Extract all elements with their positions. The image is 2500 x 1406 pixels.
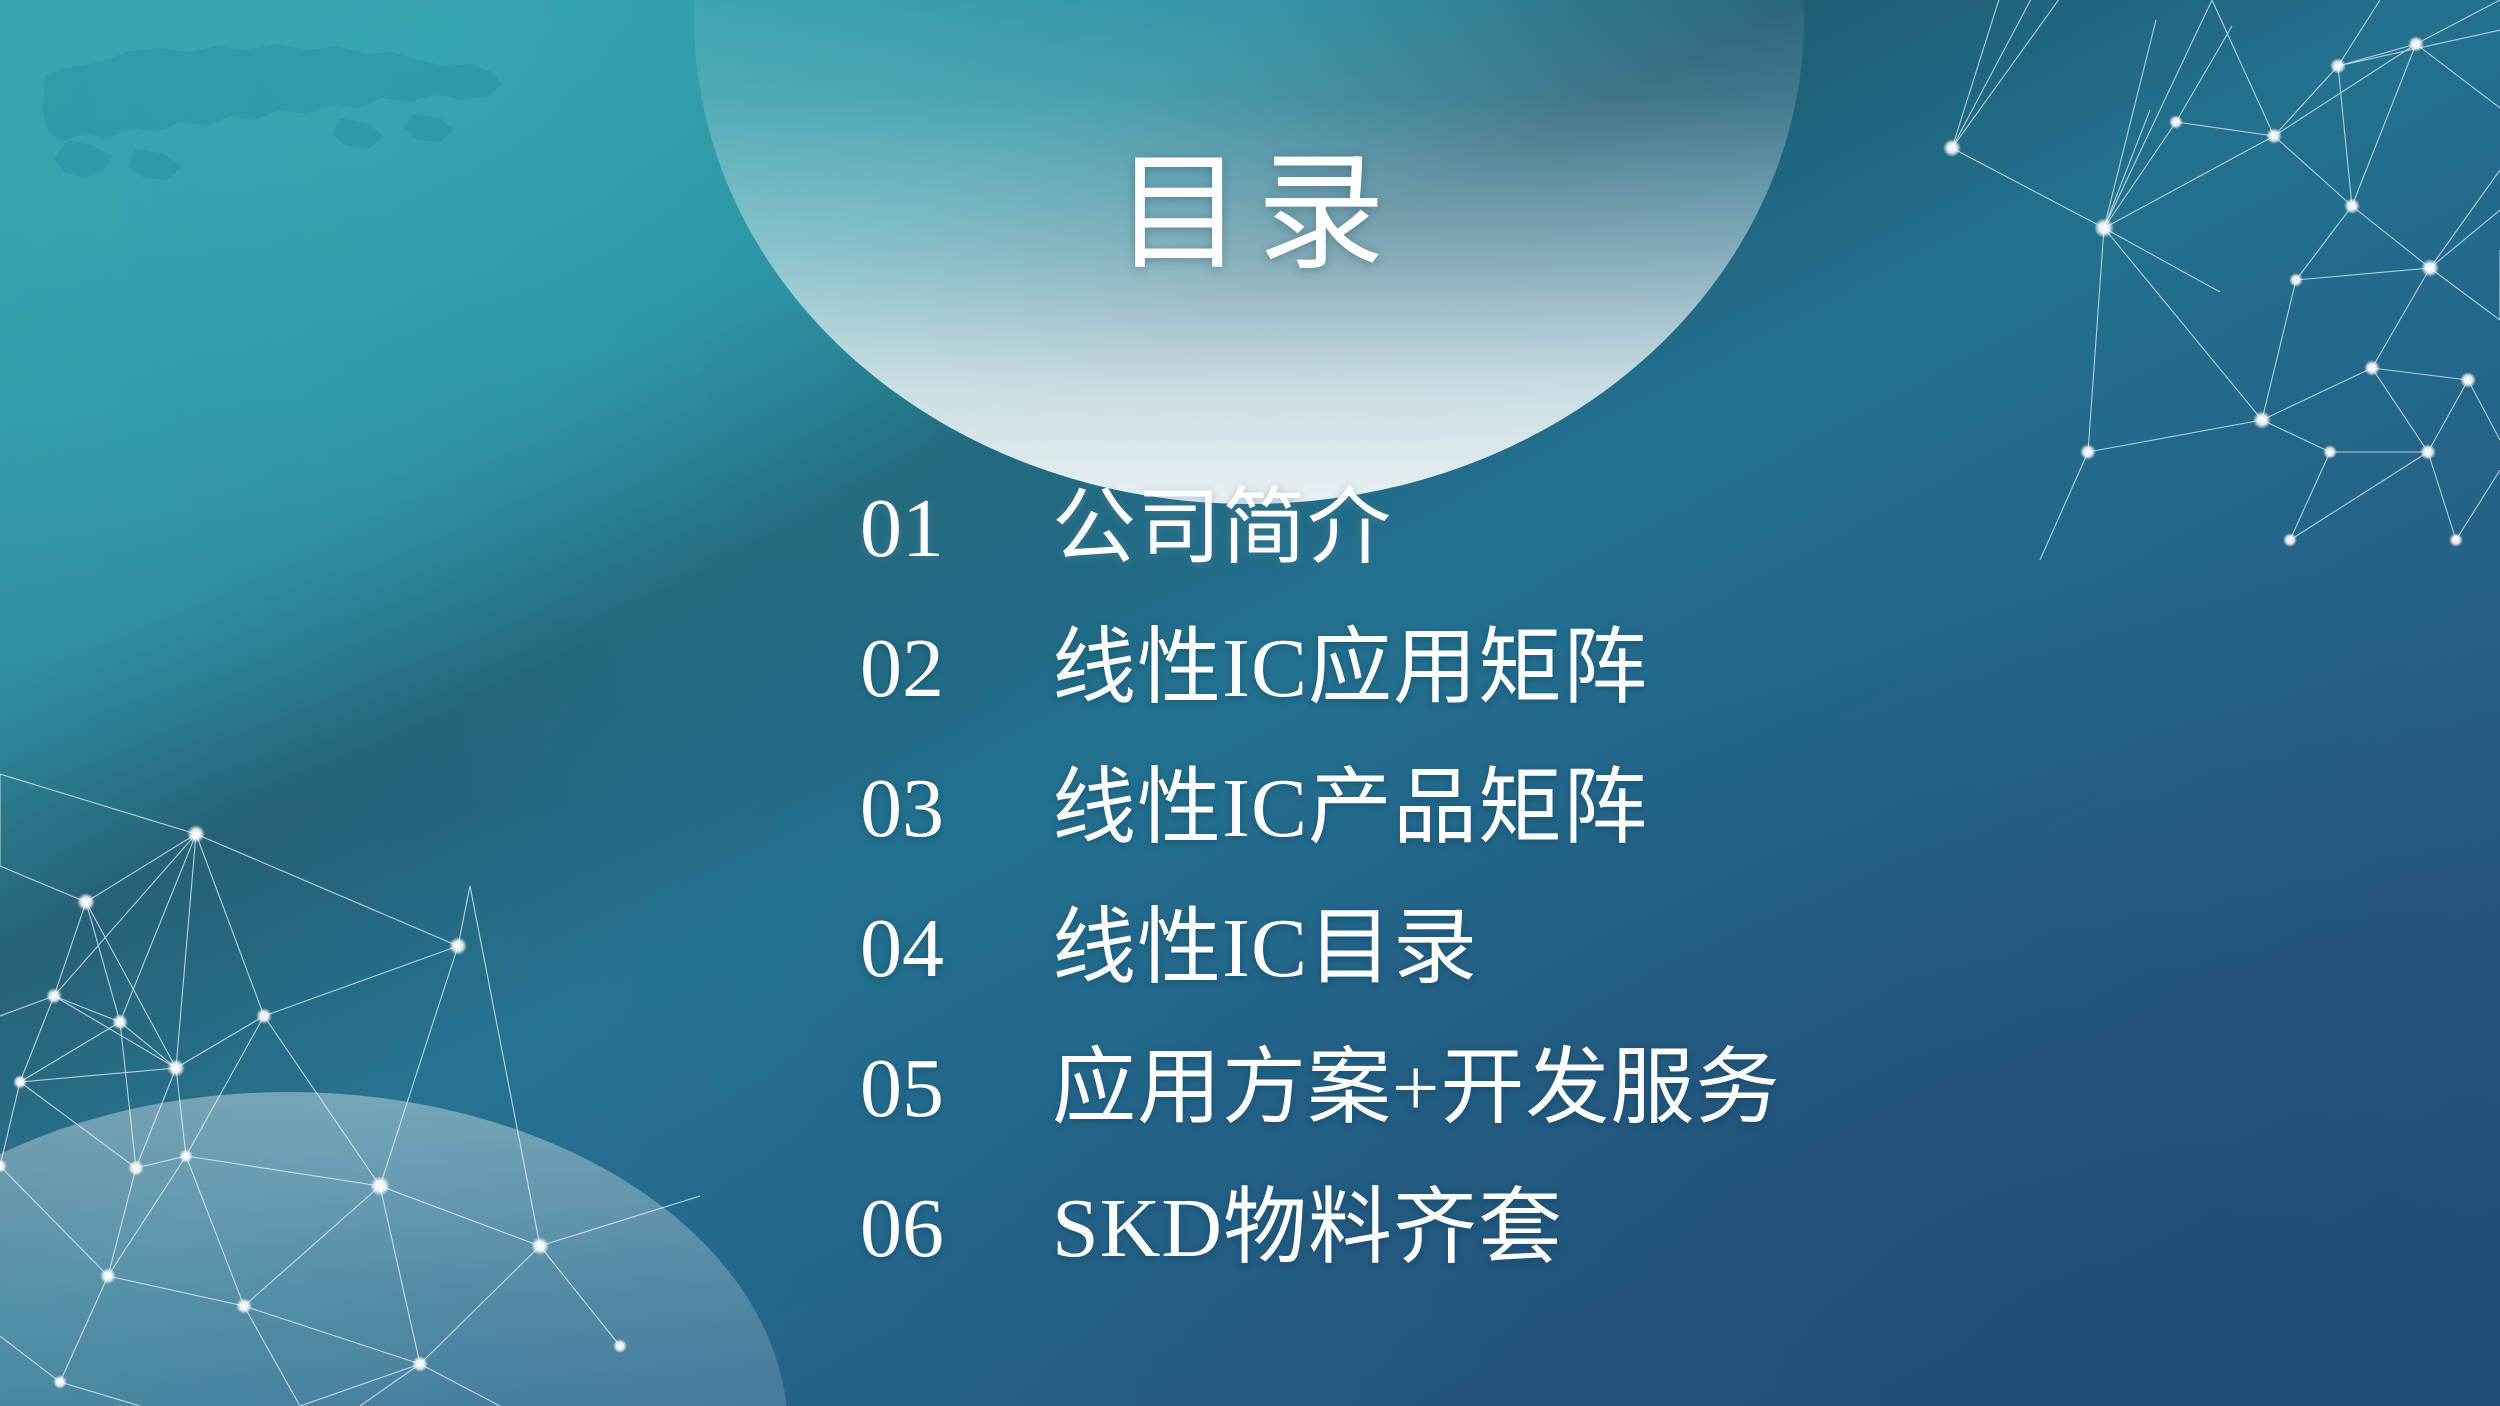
slide-content: 目录 01 公司简介 02 线性IC应用矩阵 03 线性IC产品矩阵 04 线性…: [0, 0, 2500, 1406]
toc-item-05[interactable]: 05 应用方案+开发服务: [860, 1047, 2360, 1187]
toc-item-02[interactable]: 02 线性IC应用矩阵: [860, 627, 2360, 767]
presentation-slide: 目录 01 公司简介 02 线性IC应用矩阵 03 线性IC产品矩阵 04 线性…: [0, 0, 2500, 1406]
toc-label: 线性IC应用矩阵: [1052, 627, 1648, 711]
toc-number: 02: [860, 627, 1052, 711]
toc-label: 应用方案+开发服务: [1052, 1047, 1780, 1131]
toc-number: 03: [860, 767, 1052, 851]
toc-number: 04: [860, 907, 1052, 991]
toc-label: 线性IC目录: [1052, 907, 1478, 991]
toc-item-04[interactable]: 04 线性IC目录: [860, 907, 2360, 1047]
toc-item-06[interactable]: 06 SKD物料齐套: [860, 1187, 2360, 1327]
toc-label: SKD物料齐套: [1052, 1187, 1563, 1271]
toc-number: 01: [860, 487, 1052, 571]
toc-label: 公司简介: [1052, 487, 1392, 571]
toc-item-03[interactable]: 03 线性IC产品矩阵: [860, 767, 2360, 907]
page-title: 目录: [0, 150, 2500, 278]
toc-item-01[interactable]: 01 公司简介: [860, 487, 2360, 627]
toc-label: 线性IC产品矩阵: [1052, 767, 1648, 851]
table-of-contents-list: 01 公司简介 02 线性IC应用矩阵 03 线性IC产品矩阵 04 线性IC目…: [860, 487, 2360, 1327]
toc-number: 06: [860, 1187, 1052, 1271]
toc-number: 05: [860, 1047, 1052, 1131]
